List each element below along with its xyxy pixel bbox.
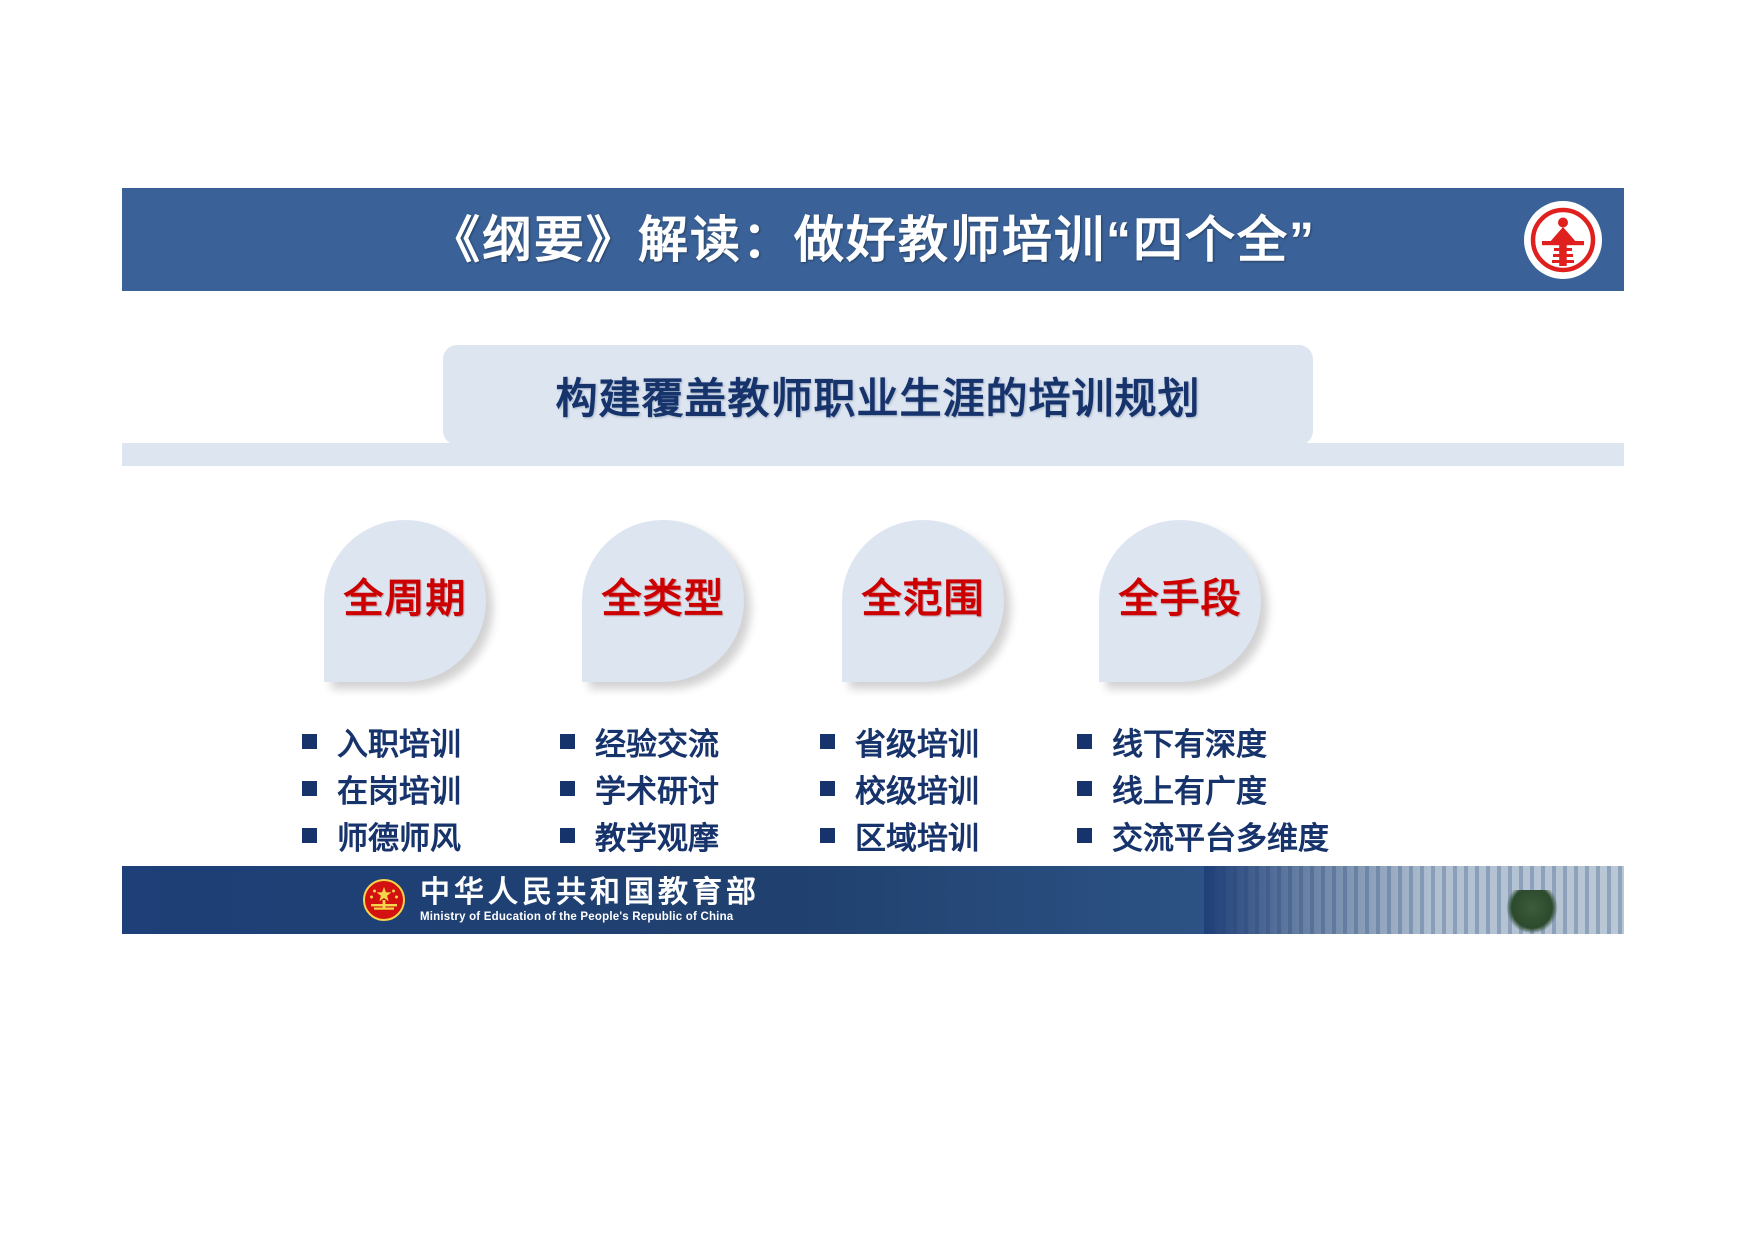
pillar-badge-2[interactable]: 全类型 xyxy=(582,520,744,682)
list-item-label: 区域培训 xyxy=(855,813,979,858)
list-item: 线下有深度 xyxy=(1077,718,1387,765)
ministry-name-cn: 中华人民共和国教育部 xyxy=(420,877,760,909)
list-item-label: 省级培训 xyxy=(855,719,979,764)
list-item-label: 经验交流 xyxy=(595,719,719,764)
pillar-badge-label-3: 全范围 xyxy=(862,566,985,624)
list-item-label: 线上有广度 xyxy=(1112,766,1267,811)
slide-canvas: 《纲要》解读：做好教师培训“四个全” 构建覆盖教师职业生涯的培训规划 全周期 xyxy=(0,0,1755,1241)
square-bullet-icon xyxy=(302,734,317,749)
pillar-badge-label-4: 全手段 xyxy=(1119,566,1242,624)
square-bullet-icon xyxy=(820,734,835,749)
square-bullet-icon xyxy=(560,781,575,796)
ministry-name-en: Ministry of Education of the People's Re… xyxy=(420,911,760,923)
list-item-label: 线下有深度 xyxy=(1112,719,1267,764)
square-bullet-icon xyxy=(560,734,575,749)
list-item-label: 师德师风 xyxy=(337,813,461,858)
square-bullet-icon xyxy=(1077,734,1092,749)
title-bar: 《纲要》解读：做好教师培训“四个全” xyxy=(122,188,1624,291)
footer-branding: 中华人民共和国教育部 Ministry of Education of the … xyxy=(362,866,760,934)
list-item-label: 入职培训 xyxy=(337,719,461,764)
pillar-badge-label-1: 全周期 xyxy=(344,566,467,624)
pillar-badge-3[interactable]: 全范围 xyxy=(842,520,1004,682)
list-item-label: 学术研讨 xyxy=(595,766,719,811)
list-item-label: 交流平台多维度 xyxy=(1112,813,1329,858)
cetv-circle-logo-icon xyxy=(1524,201,1602,279)
pillar-column-4: 全手段 线下有深度 线上有广度 交流平台多维度 成果时效有速度 xyxy=(1077,520,1387,906)
pillar-badge-4[interactable]: 全手段 xyxy=(1099,520,1261,682)
subtitle-strip xyxy=(122,443,1624,466)
list-item-label: 教学观摩 xyxy=(595,813,719,858)
list-item: 线上有广度 xyxy=(1077,765,1387,812)
square-bullet-icon xyxy=(302,781,317,796)
square-bullet-icon xyxy=(1077,828,1092,843)
footer-band: 中华人民共和国教育部 Ministry of Education of the … xyxy=(122,866,1624,934)
pillar-badge-label-2: 全类型 xyxy=(602,566,725,624)
square-bullet-icon xyxy=(820,781,835,796)
subtitle-box: 构建覆盖教师职业生涯的培训规划 xyxy=(443,345,1313,445)
list-item-label: 在岗培训 xyxy=(337,766,461,811)
list-item: 交流平台多维度 xyxy=(1077,812,1387,859)
tree-decoration-icon xyxy=(1506,890,1558,934)
china-national-emblem-icon xyxy=(362,878,406,922)
page-title: 《纲要》解读：做好教师培训“四个全” xyxy=(430,215,1316,265)
list-item-label: 校级培训 xyxy=(855,766,979,811)
pillars-group: 全周期 入职培训 在岗培训 师德师风 教学进修 全类型 经验交流 学术研讨 教学… xyxy=(122,520,1624,870)
square-bullet-icon xyxy=(560,828,575,843)
square-bullet-icon xyxy=(820,828,835,843)
government-building-photo xyxy=(1204,866,1624,934)
subtitle-text: 构建覆盖教师职业生涯的培训规划 xyxy=(555,365,1200,426)
pillar-badge-1[interactable]: 全周期 xyxy=(324,520,486,682)
square-bullet-icon xyxy=(302,828,317,843)
square-bullet-icon xyxy=(1077,781,1092,796)
